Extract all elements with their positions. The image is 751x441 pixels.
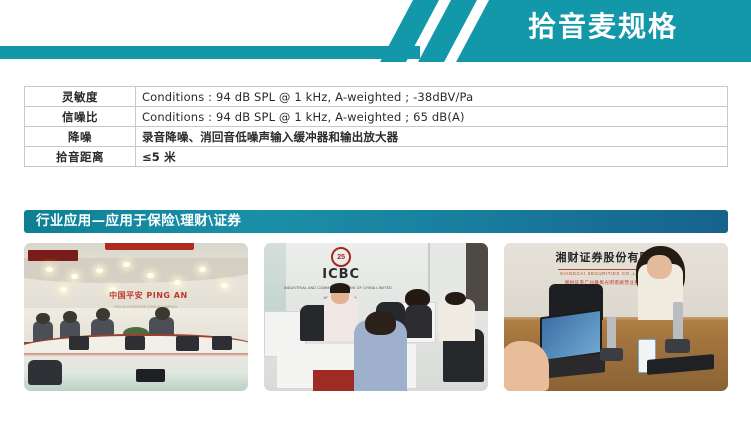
spec-table: 灵敏度 Conditions : 94 dB SPL @ 1 kHz, A-we… <box>24 86 728 167</box>
monitor <box>125 336 145 349</box>
spec-label: 灵敏度 <box>25 87 136 107</box>
microphone-base <box>665 339 690 352</box>
ceiling-light-icon <box>46 267 53 272</box>
page-header: 拾音麦规格 <box>0 0 751 62</box>
brand-logo-text: 中国平安 PING AN <box>109 290 188 301</box>
staff-head <box>63 311 76 323</box>
section-header-bar: 行业应用—应用于保险\理财\证券 <box>24 210 728 233</box>
customer-person <box>439 299 475 340</box>
spec-value: 录音降噪、消回音低噪声输入缓冲器和输出放大器 <box>136 127 728 147</box>
ceiling-light-icon <box>199 267 206 272</box>
spec-value: Conditions : 94 dB SPL @ 1 kHz, A-weight… <box>136 87 728 107</box>
spec-label: 降噪 <box>25 127 136 147</box>
chair <box>28 360 62 385</box>
industry-photo-row: 中国平安 PING AN PING AN INSURANCE (GROUP) C… <box>24 243 728 391</box>
spec-value: ≤5 米 <box>136 147 728 167</box>
spec-label: 信噪比 <box>25 107 136 127</box>
ceiling-light-icon <box>96 268 103 273</box>
staff-head <box>155 307 170 320</box>
monitor <box>176 336 198 351</box>
microphone-icon <box>607 317 616 350</box>
page-title: 拾音麦规格 <box>528 7 678 47</box>
customer-hair <box>445 292 465 305</box>
ceiling-light-icon <box>123 262 130 267</box>
counter-speaker <box>136 369 165 382</box>
table-row: 拾音距离 ≤5 米 <box>25 147 728 167</box>
staff-head <box>36 313 49 325</box>
table-row: 信噪比 Conditions : 94 dB SPL @ 1 kHz, A-we… <box>25 107 728 127</box>
section-title: 行业应用—应用于保险\理财\证券 <box>36 210 241 233</box>
monitor <box>69 336 89 349</box>
microphone-icon <box>673 302 683 340</box>
staff-person <box>405 305 432 338</box>
table-row: 降噪 录音降噪、消回音低噪声输入缓冲器和输出放大器 <box>25 127 728 147</box>
ceiling-light-icon <box>221 283 228 288</box>
photo-ping-an-bank-hall: 中国平安 PING AN PING AN INSURANCE (GROUP) C… <box>24 243 248 391</box>
red-led-sign <box>28 250 77 260</box>
brand-logo-text: ICBC <box>322 267 360 282</box>
brand-logo-subtext: XIANGCAI SECURITIES CO.,LTD <box>560 271 643 276</box>
staff-hair <box>405 289 430 307</box>
table-row: 灵敏度 Conditions : 94 dB SPL @ 1 kHz, A-we… <box>25 87 728 107</box>
monitor <box>212 336 232 349</box>
hand <box>504 341 549 391</box>
microphone-base <box>600 348 622 361</box>
red-banner-sign <box>105 243 195 250</box>
photo-icbc-mumbai-branch: 25 ICBC INDUSTRIAL AND COMMERCIAL BANK O… <box>264 243 488 391</box>
header-stripe <box>0 46 420 59</box>
customer-head <box>365 311 396 335</box>
ceiling-light-icon <box>147 273 154 278</box>
spec-value: Conditions : 94 dB SPL @ 1 kHz, A-weight… <box>136 107 728 127</box>
spec-label: 拾音距离 <box>25 147 136 167</box>
staff-face <box>647 255 672 279</box>
photo-xiangcai-securities: 湘财证券股份有限公司 XIANGCAI SECURITIES CO.,LTD 湘… <box>504 243 728 391</box>
staff-hair <box>330 283 350 293</box>
